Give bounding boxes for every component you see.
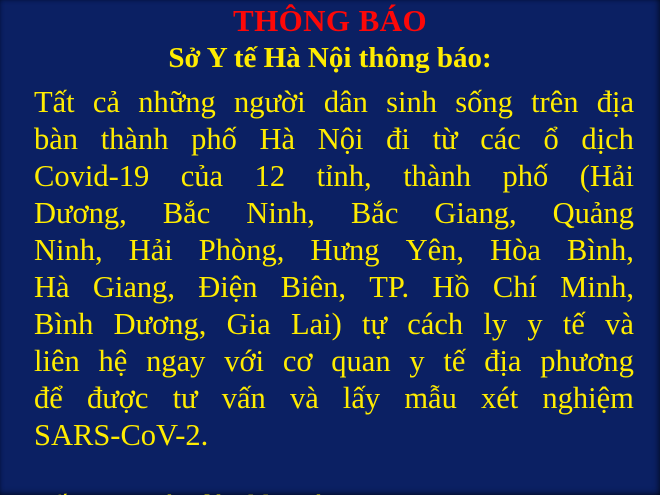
body-line: Ninh,HảiPhòng,HưngYên,HòaBình, [34,232,634,269]
body-word: y [409,343,424,380]
body-line: Dương,BắcNinh,BắcGiang,Quảng [34,195,634,232]
body-word: để [34,380,63,417]
body-word: đi [386,121,410,158]
body-word: (Hải [580,158,634,195]
body-word: sống [455,84,513,121]
body-word: những [138,84,216,121]
body-word: Dương, [34,195,127,232]
body-word: Giang, [434,195,516,232]
body-word: cơ [283,343,313,380]
body-word: dịch [581,121,634,158]
body-word: được [87,380,148,417]
body-word: và [290,380,319,417]
body-word: Gia [227,306,271,343]
body-word: SARS-CoV-2. [34,417,208,454]
body-word: cả [93,84,120,121]
body-word: Hải [129,232,173,269]
body-word: thành [101,121,169,158]
body-word: Điện [198,269,257,306]
body-word: Hưng [310,232,379,269]
body-word: từ [433,121,458,158]
body-word: Minh, [560,269,634,306]
body-word: Bình [34,306,93,343]
body-word: vấn [222,380,266,417]
body-word: Giang, [93,269,175,306]
body-word: Tất [34,84,75,121]
body-word: quan [331,343,390,380]
body-word: phố [191,121,237,158]
poster-subheadline: Sở Y tế Hà Nội thông báo: [0,42,660,74]
body-word: Phòng, [199,232,285,269]
body-word: nghiệm [542,380,634,417]
body-word: Biên, [281,269,346,306]
body-word: người [234,84,306,121]
body-word: Yên, [406,232,464,269]
body-word: phố [502,158,548,195]
poster-headline: THÔNG BÁO [0,4,660,38]
body-word: TP. [369,269,409,306]
body-word: hệ [99,343,128,380]
body-word: ổ [544,121,559,158]
body-word: phương [540,343,634,380]
body-word: Bắc [163,195,210,232]
body-word: Hà [260,121,296,158]
body-line: bànthànhphốHàNộiđitừcácổdịch [34,121,634,158]
body-word: tư [173,380,198,417]
body-word: bàn [34,121,78,158]
body-word: trên [531,84,578,121]
body-line: Covid-19của12tỉnh,thànhphố(Hải [34,158,634,195]
body-line: liênhệngayvớicơquanytếđịaphương [34,343,634,380]
body-line: BìnhDương,GiaLai)tựcáchlyytếvà [34,306,634,343]
body-word: Ninh, [246,195,315,232]
body-word: sinh [386,84,437,121]
body-word: Lai) [291,306,342,343]
announcement-body-text: Tấtcảnhữngngườidânsinhsốngtrênđịabànthàn… [34,84,634,454]
body-word: Dương, [114,306,207,343]
body-word: 12 [255,158,286,195]
body-word: Chí [493,269,537,306]
body-word: địa [484,343,521,380]
body-word: liên [34,343,80,380]
body-word: các [480,121,521,158]
body-word: Quảng [553,195,634,232]
body-word: ly [483,306,507,343]
body-word: và [605,306,634,343]
body-word: mẫu [404,380,457,417]
body-word: Bắc [351,195,398,232]
announcement-poster: THÔNG BÁO Sở Y tế Hà Nội thông báo: Tấtc… [0,0,660,495]
body-line: SARS-CoV-2. [34,417,634,454]
clipped-next-line: Tất cả người dân khi có [34,488,634,495]
body-word: Covid-19 [34,158,149,195]
body-word: lấy [343,380,380,417]
body-word: Hòa [490,232,541,269]
body-word: xét [481,380,518,417]
body-word: tự [362,306,387,343]
body-word: tỉnh, [317,158,372,195]
body-word: dân [324,84,368,121]
body-word: tế [563,306,585,343]
body-word: Hà [34,269,70,306]
body-word: của [181,158,223,195]
body-word: Nội [318,121,364,158]
body-word: Ninh, [34,232,103,269]
body-line: HàGiang,ĐiệnBiên,TP.HồChíMinh, [34,269,634,306]
body-word: Hồ [432,269,469,306]
body-line: Tấtcảnhữngngườidânsinhsốngtrênđịa [34,84,634,121]
body-word: thành [403,158,471,195]
body-word: tế [443,343,465,380]
body-word: địa [597,84,634,121]
body-word: Bình, [567,232,634,269]
body-word: y [527,306,542,343]
body-word: cách [407,306,463,343]
body-word: ngay [146,343,205,380]
body-line: đểđượctưvấnvàlấymẫuxétnghiệm [34,380,634,417]
body-word: với [224,343,264,380]
